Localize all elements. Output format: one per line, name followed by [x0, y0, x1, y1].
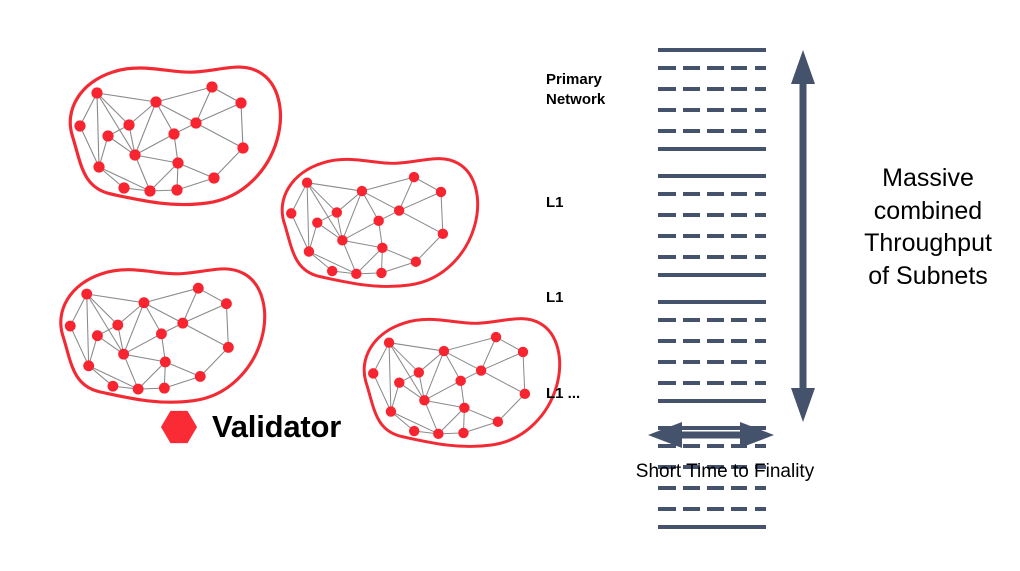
validator-network-blob-1[interactable]: [70, 67, 280, 204]
layer-label-l1-1: L1: [546, 193, 564, 213]
diagram-canvas: Validator Primary Network L1 L1 L1 ...: [0, 0, 1020, 571]
layer-bottom-rule: [658, 525, 766, 529]
layer-bottom-rule: [658, 399, 766, 403]
throughput-line-3: Throughput: [838, 227, 1018, 260]
layer-label-l1-2: L1: [546, 288, 564, 308]
layer-block-l1-2[interactable]: [658, 300, 766, 403]
throughput-annotation: Massive combined Throughput of Subnets: [838, 162, 1018, 292]
throughput-line-4: of Subnets: [838, 260, 1018, 293]
legend-label: Validator: [212, 409, 341, 445]
layer-bottom-rule: [658, 147, 766, 151]
layer-label-primary-network: Primary Network: [546, 70, 605, 110]
throughput-line-1: Massive: [838, 162, 1018, 195]
layer-block-l1-1[interactable]: [658, 174, 766, 277]
subnet-layer-stack: [658, 48, 766, 529]
horizontal-finality-arrow: [640, 420, 780, 450]
validator-network-blob-2[interactable]: [282, 159, 477, 287]
vertical-throughput-arrow: [790, 50, 816, 422]
validator-hexagon-icon: [160, 408, 198, 446]
legend: Validator: [160, 408, 341, 446]
validator-network-blob-4[interactable]: [364, 319, 559, 447]
layer-bottom-rule: [658, 273, 766, 277]
throughput-line-2: combined: [838, 195, 1018, 228]
layer-block-primary-network[interactable]: [658, 48, 766, 151]
validator-network-blob-3[interactable]: [61, 269, 265, 402]
finality-annotation: Short Time to Finality: [600, 461, 850, 483]
layer-label-l1-3: L1 ...: [546, 384, 580, 404]
